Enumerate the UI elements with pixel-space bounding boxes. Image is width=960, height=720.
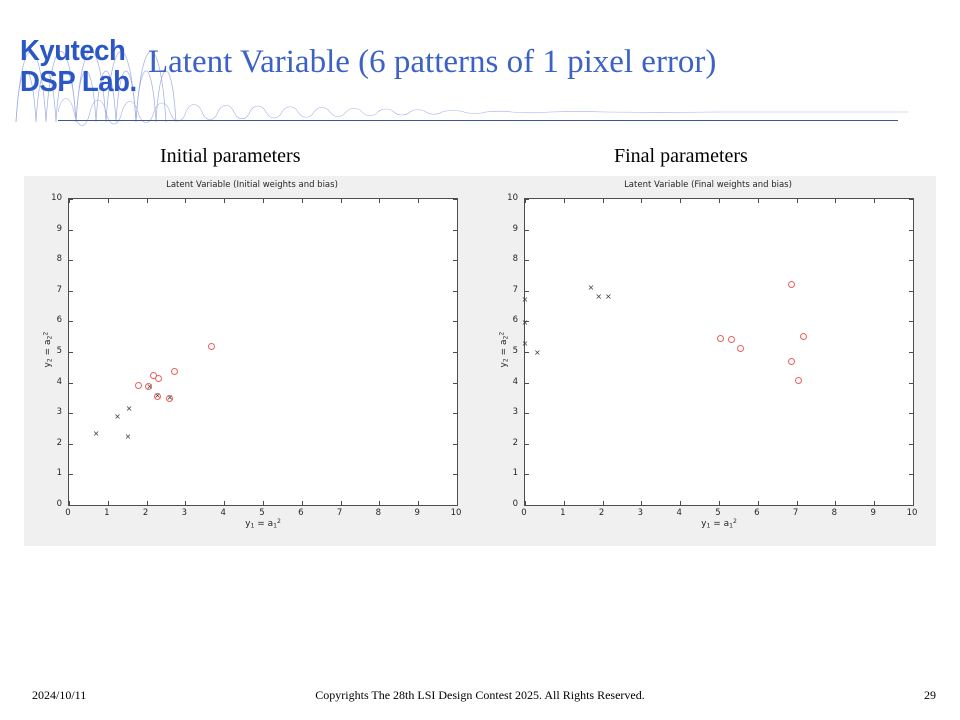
data-point-cross bbox=[605, 293, 612, 300]
x-tick bbox=[263, 501, 264, 505]
x-axis-title: y1 = a12 bbox=[524, 518, 914, 529]
data-point-circle bbox=[788, 281, 795, 288]
x-tick bbox=[913, 501, 914, 505]
x-tick-label: 9 bbox=[414, 508, 419, 518]
x-tick-label: 1 bbox=[560, 508, 565, 518]
y-tick-right bbox=[453, 260, 457, 261]
plot-axes-area bbox=[68, 198, 458, 506]
logo-line-1: Kyutech bbox=[20, 36, 137, 67]
y-tick-label: 3 bbox=[44, 407, 62, 417]
y-tick-label: 4 bbox=[44, 377, 62, 387]
y-tick-right bbox=[453, 321, 457, 322]
y-tick-right bbox=[453, 383, 457, 384]
data-point-cross bbox=[93, 430, 100, 437]
x-tick-label: 10 bbox=[907, 508, 918, 518]
x-tick-top bbox=[457, 199, 458, 203]
y-tick-label: 2 bbox=[500, 438, 518, 448]
logo-text: Kyutech DSP Lab. bbox=[20, 36, 137, 98]
slide-footer: 2024/10/11 Copyrights The 28th LSI Desig… bbox=[0, 688, 960, 710]
x-tick bbox=[758, 501, 759, 505]
y-tick-right bbox=[909, 444, 913, 445]
y-tick-label: 8 bbox=[44, 254, 62, 264]
y-tick-right bbox=[909, 474, 913, 475]
caption-initial-parameters: Initial parameters bbox=[160, 145, 301, 168]
y-tick-label: 5 bbox=[500, 346, 518, 356]
x-tick-top bbox=[263, 199, 264, 203]
y-tick bbox=[69, 474, 73, 475]
y-tick-label: 3 bbox=[500, 407, 518, 417]
y-tick bbox=[69, 444, 73, 445]
page-title: Latent Variable (6 patterns of 1 pixel e… bbox=[148, 44, 948, 81]
x-tick-top bbox=[913, 199, 914, 203]
data-point-cross bbox=[534, 349, 541, 356]
y-tick bbox=[69, 413, 73, 414]
x-tick bbox=[379, 501, 380, 505]
data-point-circle bbox=[154, 393, 161, 400]
y-tick-right bbox=[909, 321, 913, 322]
x-tick bbox=[418, 501, 419, 505]
y-tick-label: 6 bbox=[44, 315, 62, 325]
x-tick-top bbox=[379, 199, 380, 203]
chart-initial-weights: Latent Variable (Initial weights and bia… bbox=[24, 176, 480, 546]
chart-final-weights: Latent Variable (Final weights and bias)… bbox=[480, 176, 936, 546]
data-point-circle bbox=[208, 343, 215, 350]
data-point-cross bbox=[126, 405, 133, 412]
y-tick-right bbox=[909, 199, 913, 200]
x-tick-label: 3 bbox=[182, 508, 187, 518]
y-tick bbox=[525, 505, 529, 506]
x-tick-top bbox=[797, 199, 798, 203]
y-tick-right bbox=[453, 352, 457, 353]
x-tick-label: 7 bbox=[337, 508, 342, 518]
x-tick bbox=[564, 501, 565, 505]
y-tick bbox=[525, 474, 529, 475]
y-tick bbox=[69, 260, 73, 261]
x-tick-label: 5 bbox=[715, 508, 720, 518]
y-tick-label: 8 bbox=[500, 254, 518, 264]
y-tick-right bbox=[909, 413, 913, 414]
caption-final-parameters: Final parameters bbox=[614, 145, 748, 168]
x-tick-top bbox=[147, 199, 148, 203]
y-tick-right bbox=[453, 413, 457, 414]
data-point-cross bbox=[124, 433, 131, 440]
data-point-circle bbox=[717, 335, 724, 342]
data-point-circle bbox=[155, 375, 162, 382]
y-tick-right bbox=[909, 352, 913, 353]
y-tick bbox=[525, 444, 529, 445]
x-tick bbox=[224, 501, 225, 505]
x-tick-top bbox=[758, 199, 759, 203]
x-tick-label: 7 bbox=[793, 508, 798, 518]
x-tick-label: 6 bbox=[298, 508, 303, 518]
x-tick bbox=[641, 501, 642, 505]
y-tick-right bbox=[909, 260, 913, 261]
y-tick-label: 7 bbox=[44, 285, 62, 295]
y-tick bbox=[525, 352, 529, 353]
y-tick-label: 1 bbox=[44, 468, 62, 478]
x-tick-top bbox=[224, 199, 225, 203]
x-tick bbox=[680, 501, 681, 505]
y-tick bbox=[69, 230, 73, 231]
data-point-circle bbox=[145, 383, 152, 390]
x-tick-top bbox=[874, 199, 875, 203]
data-point-circle bbox=[800, 333, 807, 340]
y-tick bbox=[69, 505, 73, 506]
data-point-circle bbox=[737, 345, 744, 352]
x-tick bbox=[341, 501, 342, 505]
footer-page-number: 29 bbox=[924, 688, 936, 703]
data-point-cross bbox=[522, 340, 529, 347]
x-tick-label: 0 bbox=[65, 508, 70, 518]
figure-panel: Latent Variable (Initial weights and bia… bbox=[24, 176, 936, 546]
y-tick-label: 0 bbox=[44, 499, 62, 509]
x-tick-top bbox=[603, 199, 604, 203]
x-tick-label: 10 bbox=[451, 508, 462, 518]
x-tick-top bbox=[719, 199, 720, 203]
x-tick-label: 2 bbox=[599, 508, 604, 518]
title-divider bbox=[58, 120, 898, 121]
x-tick-label: 1 bbox=[104, 508, 109, 518]
y-tick-right bbox=[909, 505, 913, 506]
x-tick-top bbox=[680, 199, 681, 203]
y-tick-right bbox=[453, 230, 457, 231]
data-point-circle bbox=[728, 336, 735, 343]
chart-title: Latent Variable (Final weights and bias) bbox=[480, 180, 936, 190]
y-tick bbox=[69, 291, 73, 292]
x-tick bbox=[603, 501, 604, 505]
y-tick-label: 9 bbox=[500, 224, 518, 234]
x-tick bbox=[835, 501, 836, 505]
y-tick bbox=[525, 230, 529, 231]
x-axis-title: y1 = a12 bbox=[68, 518, 458, 529]
chart-title: Latent Variable (Initial weights and bia… bbox=[24, 180, 480, 190]
x-tick bbox=[147, 501, 148, 505]
x-tick-top bbox=[835, 199, 836, 203]
y-tick bbox=[525, 291, 529, 292]
y-tick-right bbox=[453, 444, 457, 445]
data-point-cross bbox=[587, 284, 594, 291]
y-tick-label: 4 bbox=[500, 377, 518, 387]
x-tick-label: 3 bbox=[638, 508, 643, 518]
x-tick-top bbox=[418, 199, 419, 203]
data-point-cross bbox=[595, 293, 602, 300]
y-tick-label: 10 bbox=[500, 193, 518, 203]
y-tick bbox=[525, 383, 529, 384]
x-tick-label: 5 bbox=[259, 508, 264, 518]
data-point-cross bbox=[522, 296, 529, 303]
y-tick-label: 9 bbox=[44, 224, 62, 234]
x-tick-top bbox=[108, 199, 109, 203]
x-tick-top bbox=[564, 199, 565, 203]
x-tick-top bbox=[185, 199, 186, 203]
y-tick-label: 0 bbox=[500, 499, 518, 509]
data-point-circle bbox=[795, 377, 802, 384]
x-tick bbox=[457, 501, 458, 505]
x-tick bbox=[302, 501, 303, 505]
y-tick-right bbox=[453, 199, 457, 200]
y-tick-label: 1 bbox=[500, 468, 518, 478]
y-tick-label: 2 bbox=[44, 438, 62, 448]
y-tick bbox=[525, 199, 529, 200]
x-tick-label: 6 bbox=[754, 508, 759, 518]
y-tick bbox=[69, 383, 73, 384]
x-tick-label: 4 bbox=[220, 508, 225, 518]
x-tick-top bbox=[302, 199, 303, 203]
footer-copyright: Copyrights The 28th LSI Design Contest 2… bbox=[0, 688, 960, 703]
x-tick-label: 0 bbox=[521, 508, 526, 518]
y-tick-label: 10 bbox=[44, 193, 62, 203]
y-tick-label: 6 bbox=[500, 315, 518, 325]
x-tick-label: 8 bbox=[376, 508, 381, 518]
y-tick bbox=[525, 413, 529, 414]
x-tick bbox=[108, 501, 109, 505]
title-wave-decoration bbox=[58, 92, 908, 132]
x-tick-label: 2 bbox=[143, 508, 148, 518]
x-tick bbox=[874, 501, 875, 505]
data-point-cross bbox=[522, 319, 529, 326]
x-tick bbox=[185, 501, 186, 505]
y-tick-label: 7 bbox=[500, 285, 518, 295]
y-tick-right bbox=[453, 474, 457, 475]
y-tick-right bbox=[909, 230, 913, 231]
y-tick bbox=[69, 199, 73, 200]
x-tick bbox=[797, 501, 798, 505]
x-tick-label: 9 bbox=[870, 508, 875, 518]
y-tick-right bbox=[453, 505, 457, 506]
data-point-cross bbox=[114, 413, 121, 420]
y-tick-right bbox=[453, 291, 457, 292]
y-tick-label: 5 bbox=[44, 346, 62, 356]
y-tick bbox=[69, 352, 73, 353]
y-tick-right bbox=[909, 383, 913, 384]
data-point-circle bbox=[788, 358, 795, 365]
plot-axes-area bbox=[524, 198, 914, 506]
data-point-circle bbox=[135, 382, 142, 389]
x-tick bbox=[719, 501, 720, 505]
x-tick-top bbox=[341, 199, 342, 203]
data-point-circle bbox=[171, 368, 178, 375]
y-tick bbox=[525, 260, 529, 261]
x-tick-label: 8 bbox=[832, 508, 837, 518]
y-tick-right bbox=[909, 291, 913, 292]
y-tick bbox=[69, 321, 73, 322]
x-tick-top bbox=[641, 199, 642, 203]
x-tick-label: 4 bbox=[676, 508, 681, 518]
